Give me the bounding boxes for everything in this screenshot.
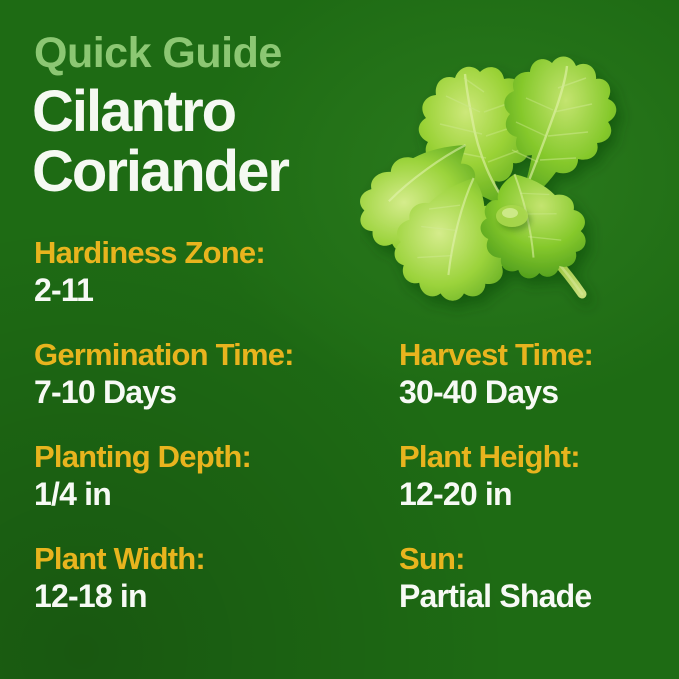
spec-value: 2-11 xyxy=(34,271,384,310)
spec-row: Hardiness Zone: 2-11 xyxy=(0,234,679,336)
quick-guide-card: Quick Guide Cilantro Coriander xyxy=(0,0,679,679)
plant-spec-grid: Hardiness Zone: 2-11 Germination Time: 7… xyxy=(0,234,679,642)
spec-value: 7-10 Days xyxy=(34,373,384,412)
plant-name-secondary: Coriander xyxy=(32,140,288,204)
spec-hardiness-zone: Hardiness Zone: 2-11 xyxy=(34,234,384,310)
spec-planting-depth: Planting Depth: 1/4 in xyxy=(34,438,384,514)
spec-value: Partial Shade xyxy=(399,577,669,616)
spec-value: 12-18 in xyxy=(34,577,384,616)
plant-name-primary: Cilantro xyxy=(32,80,235,144)
spec-sun: Sun: Partial Shade xyxy=(399,540,669,616)
spec-label: Harvest Time: xyxy=(399,336,669,373)
spec-label: Hardiness Zone: xyxy=(34,234,384,271)
spec-germination-time: Germination Time: 7-10 Days xyxy=(34,336,384,412)
spec-row: Planting Depth: 1/4 in Plant Height: 12-… xyxy=(0,438,679,540)
spec-plant-width: Plant Width: 12-18 in xyxy=(34,540,384,616)
spec-label: Germination Time: xyxy=(34,336,384,373)
spec-label: Plant Height: xyxy=(399,438,669,475)
spec-value: 30-40 Days xyxy=(399,373,669,412)
spec-value: 1/4 in xyxy=(34,475,384,514)
spec-row: Plant Width: 12-18 in Sun: Partial Shade xyxy=(0,540,679,642)
spec-label: Sun: xyxy=(399,540,669,577)
eyebrow-quick-guide: Quick Guide xyxy=(34,28,282,78)
spec-label: Planting Depth: xyxy=(34,438,384,475)
spec-harvest-time: Harvest Time: 30-40 Days xyxy=(399,336,669,412)
spec-label: Plant Width: xyxy=(34,540,384,577)
spec-plant-height: Plant Height: 12-20 in xyxy=(399,438,669,514)
spec-row: Germination Time: 7-10 Days Harvest Time… xyxy=(0,336,679,438)
spec-value: 12-20 in xyxy=(399,475,669,514)
